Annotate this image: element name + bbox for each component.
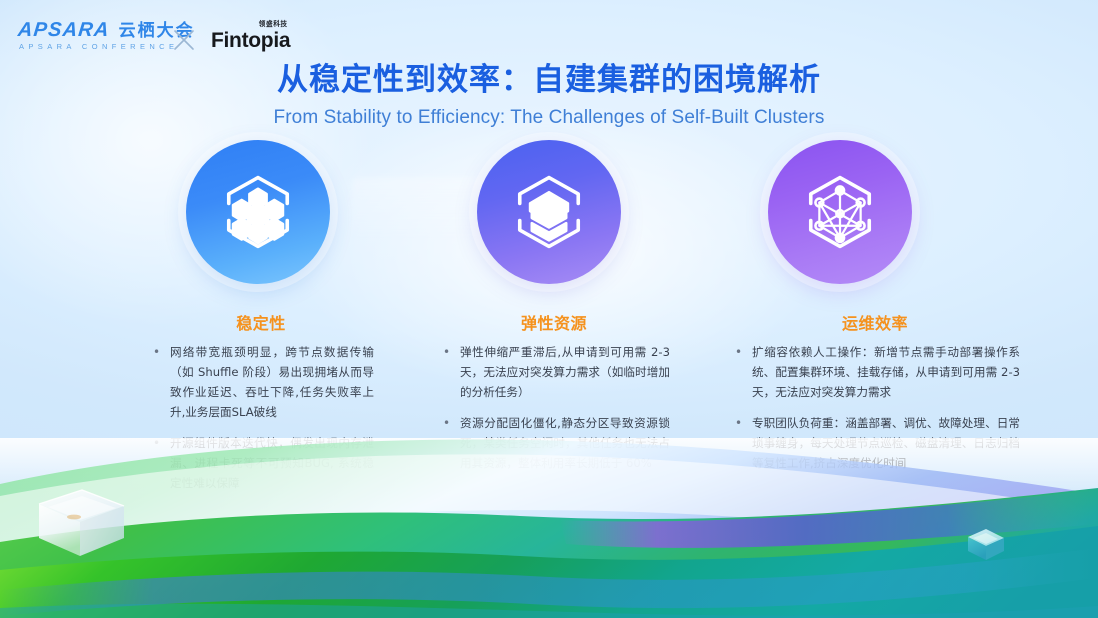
column-heading: 运维效率 — [730, 310, 1020, 334]
apsara-logo: APSARA 云栖大会 APSARA CONFERENCE — [18, 20, 195, 51]
fintopia-wordmark: Fintopia — [211, 30, 290, 51]
list-item: 弹性伸缩严重滞后,从申请到可用需 2-3 天，无法应对突发算力需求（如临时增加的… — [438, 343, 670, 403]
fintopia-chinese-name: 领盛科技 — [259, 21, 288, 28]
fintopia-logo: 领盛科技 Fintopia — [211, 21, 290, 51]
apsara-logo-row: APSARA 云栖大会 — [18, 20, 195, 40]
page-title: 从稳定性到效率：自建集群的困境解析 — [0, 60, 1098, 100]
list-item: 网络带宽瓶颈明显，跨节点数据传输（如 Shuffle 阶段）易出现拥堵从而导致作… — [148, 343, 374, 423]
title-block: 从稳定性到效率：自建集群的困境解析 From Stability to Effi… — [0, 60, 1098, 129]
apsara-subtitle: APSARA CONFERENCE — [18, 43, 195, 51]
page-subtitle: From Stability to Efficiency: The Challe… — [0, 107, 1098, 129]
circle-stability[interactable] — [186, 140, 330, 284]
circle-elastic-resource[interactable] — [477, 140, 621, 284]
glass-cube-icon — [24, 484, 130, 560]
circle-ops-efficiency[interactable] — [768, 140, 912, 284]
column-heading: 弹性资源 — [438, 310, 670, 334]
cluster-cube-icon — [215, 169, 301, 255]
slide-root: APSARA 云栖大会 APSARA CONFERENCE 领盛科技 Finto… — [0, 0, 1098, 618]
list-item: 扩缩容依赖人工操作：新增节点需手动部署操作系统、配置集群环境、挂载存储，从申请到… — [730, 343, 1020, 403]
apsara-wordmark: APSARA — [17, 20, 111, 40]
landscape-footer — [0, 438, 1098, 618]
teal-cube-icon — [962, 526, 1008, 562]
landscape-hills — [0, 438, 1098, 618]
stacked-layers-icon — [506, 169, 592, 255]
x-separator-icon — [173, 29, 195, 51]
network-graph-icon — [797, 169, 883, 255]
column-heading: 稳定性 — [148, 310, 374, 334]
header: APSARA 云栖大会 APSARA CONFERENCE 领盛科技 Finto… — [0, 0, 1098, 66]
